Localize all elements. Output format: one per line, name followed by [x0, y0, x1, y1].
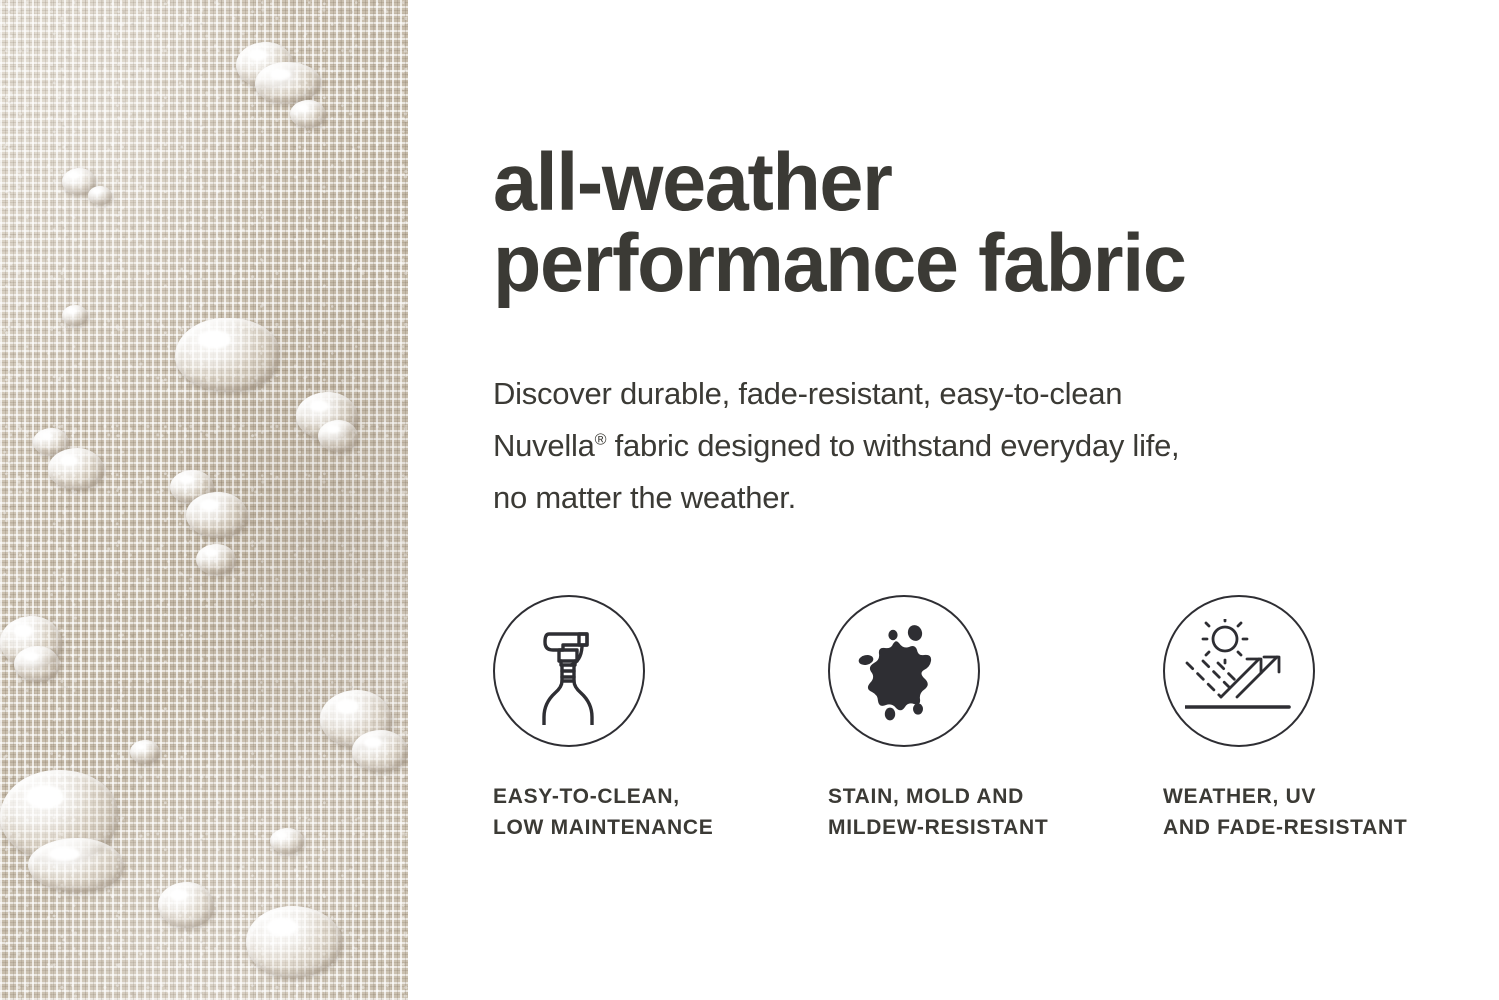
- all-weather-fabric-banner: all-weather performance fabric Discover …: [0, 0, 1499, 1000]
- feature-list: EASY-TO-CLEAN, LOW MAINTENANCE: [493, 595, 1498, 843]
- water-droplet: [158, 882, 214, 928]
- registered-trademark-mark: ®: [595, 431, 607, 449]
- spray-bottle-icon: [493, 595, 645, 747]
- water-droplet: [246, 906, 342, 978]
- subcopy-line-2: fabric designed to withstand everyday li…: [606, 428, 1179, 463]
- water-droplet: [62, 305, 88, 326]
- water-droplet: [290, 100, 326, 128]
- feature-item-stain-resistant: STAIN, MOLD AND MILDEW-RESISTANT: [828, 595, 1163, 843]
- water-droplet: [28, 838, 124, 892]
- feature-caption: STAIN, MOLD AND MILDEW-RESISTANT: [828, 781, 1048, 843]
- water-droplet: [130, 740, 160, 764]
- water-droplet: [318, 420, 358, 452]
- feature-item-easy-to-clean: EASY-TO-CLEAN, LOW MAINTENANCE: [493, 595, 828, 843]
- subcopy-line-1: Discover durable, fade-resistant, easy-t…: [493, 376, 1122, 411]
- water-droplet: [270, 828, 304, 854]
- feature-caption: EASY-TO-CLEAN, LOW MAINTENANCE: [493, 781, 713, 843]
- feature-item-uv-resistant: WEATHER, UV AND FADE-RESISTANT: [1163, 595, 1498, 843]
- feature-caption: WEATHER, UV AND FADE-RESISTANT: [1163, 781, 1407, 843]
- content-panel: all-weather performance fabric Discover …: [408, 0, 1499, 1000]
- subcopy-paragraph: Discover durable, fade-resistant, easy-t…: [493, 368, 1413, 524]
- water-droplet: [352, 730, 408, 772]
- water-droplet: [48, 448, 104, 490]
- water-droplet: [175, 318, 279, 392]
- page-title: all-weather performance fabric: [493, 142, 1419, 304]
- subcopy-brand: Nuvella: [493, 428, 595, 463]
- water-droplet: [14, 646, 60, 682]
- water-droplet: [88, 186, 112, 205]
- ink-splat-icon: [828, 595, 980, 747]
- subcopy-line-3: no matter the weather.: [493, 480, 796, 515]
- water-droplet: [196, 544, 236, 575]
- water-droplet: [186, 492, 248, 538]
- fabric-photo-panel: [0, 0, 408, 1000]
- sun-uv-reflect-icon: [1163, 595, 1315, 747]
